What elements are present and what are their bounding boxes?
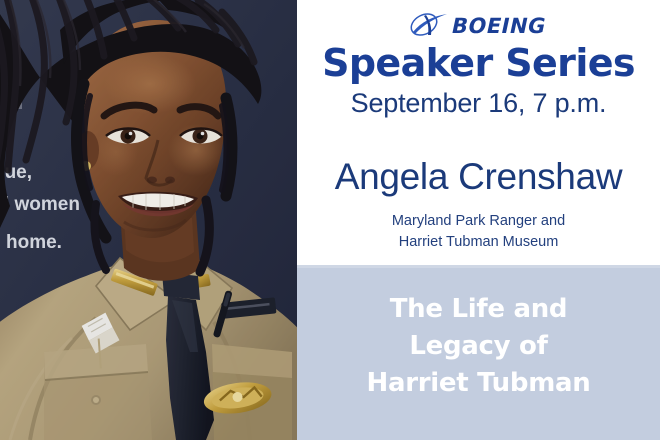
talk-title: The Life and Legacy of Harriet Tubman	[297, 291, 660, 402]
speaker-affiliation-line-2: Harriet Tubman Museum	[297, 232, 660, 253]
speaker-series-poster: cue, nd women home.	[0, 0, 660, 440]
speaker-name: Angela Crenshaw	[297, 156, 660, 198]
speaker-portrait-photo: cue, nd women home.	[0, 0, 297, 440]
event-date: September 16, 7 p.m.	[297, 88, 660, 119]
talk-title-band: The Life and Legacy of Harriet Tubman	[297, 265, 660, 440]
talk-title-line-1: The Life and	[297, 291, 660, 328]
speaker-affiliation: Maryland Park Ranger and Harriet Tubman …	[297, 211, 660, 253]
band-top-hairline	[297, 265, 660, 268]
speaker-series-title: Speaker Series	[297, 44, 660, 84]
boeing-logo: BOEING	[297, 12, 660, 38]
svg-text:BOEING: BOEING	[449, 14, 548, 38]
speaker-affiliation-line-1: Maryland Park Ranger and	[297, 211, 660, 232]
talk-title-line-3: Harriet Tubman	[297, 365, 660, 402]
talk-title-line-2: Legacy of	[297, 328, 660, 365]
